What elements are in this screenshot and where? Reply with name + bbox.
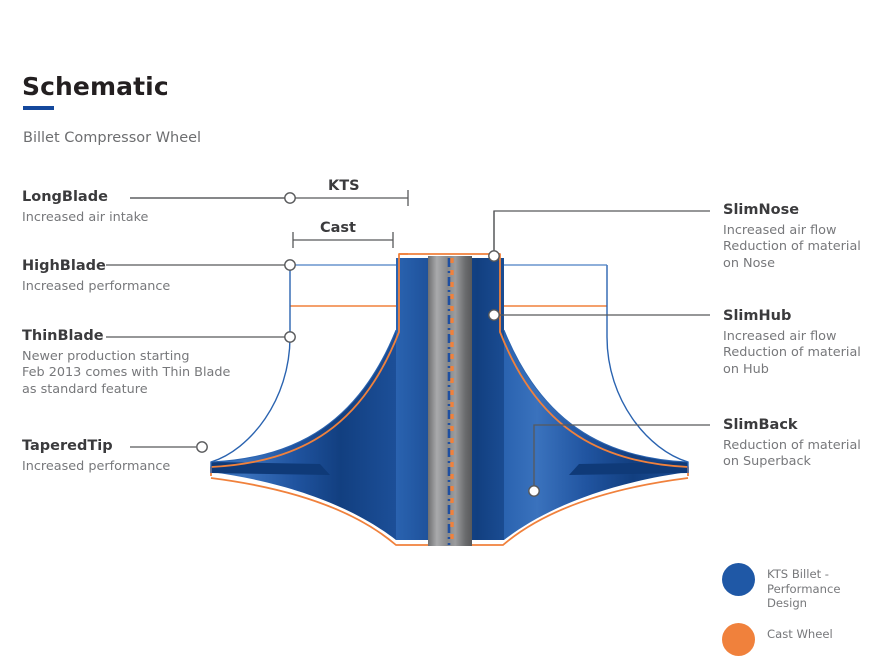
marker-slimhub	[489, 310, 499, 320]
legend-label-billet: KTS Billet - Performance Design	[767, 563, 883, 611]
legend-item-cast: Cast Wheel	[722, 623, 883, 656]
callout-slimnose-title: SlimNose	[723, 202, 861, 219]
callout-slimback: SlimBack Reduction of material on Superb…	[723, 417, 861, 471]
marker-thinblade	[285, 332, 295, 342]
callout-slimhub-desc: Increased air flow Reduction of material…	[723, 329, 861, 378]
callout-highblade: HighBlade Increased performance	[22, 258, 170, 295]
legend-swatch-cast-icon	[722, 623, 755, 656]
callout-taperedtip: TaperedTip Increased performance	[22, 438, 170, 475]
marker-slimback	[529, 486, 539, 496]
blade-tip-edge-right	[569, 462, 688, 475]
schematic-page: Schematic Billet Compressor Wheel	[0, 0, 883, 667]
callout-highblade-title: HighBlade	[22, 258, 170, 275]
callout-slimhub: SlimHub Increased air flow Reduction of …	[723, 308, 861, 378]
callout-slimback-title: SlimBack	[723, 417, 861, 434]
callout-thinblade-desc: Newer production starting Feb 2013 comes…	[22, 349, 230, 398]
marker-slimnose	[489, 251, 499, 261]
legend-swatch-billet-icon	[722, 563, 755, 596]
dim-kts-origin-marker	[285, 193, 295, 203]
legend: KTS Billet - Performance Design Cast Whe…	[722, 563, 883, 668]
marker-taperedtip	[197, 442, 207, 452]
dim-label-kts: KTS	[328, 178, 360, 195]
callout-highblade-desc: Increased performance	[22, 279, 170, 295]
callout-slimnose: SlimNose Increased air flow Reduction of…	[723, 202, 861, 272]
blade-tip-edge-left	[211, 462, 330, 475]
callout-slimback-desc: Reduction of material on Superback	[723, 438, 861, 471]
legend-label-cast: Cast Wheel	[767, 623, 833, 642]
dim-label-cast: Cast	[320, 220, 356, 237]
marker-highblade	[285, 260, 295, 270]
callout-thinblade-title: ThinBlade	[22, 328, 230, 345]
callout-taperedtip-desc: Increased performance	[22, 459, 170, 475]
callout-slimnose-desc: Increased air flow Reduction of material…	[723, 223, 861, 272]
callout-slimhub-title: SlimHub	[723, 308, 861, 325]
callout-longblade-title: LongBlade	[22, 189, 148, 206]
callout-thinblade: ThinBlade Newer production starting Feb …	[22, 328, 230, 398]
callout-taperedtip-title: TaperedTip	[22, 438, 170, 455]
leader-slimnose	[494, 211, 710, 250]
legend-item-billet: KTS Billet - Performance Design	[722, 563, 883, 611]
callout-longblade: LongBlade Increased air intake	[22, 189, 148, 226]
callout-longblade-desc: Increased air intake	[22, 210, 148, 226]
